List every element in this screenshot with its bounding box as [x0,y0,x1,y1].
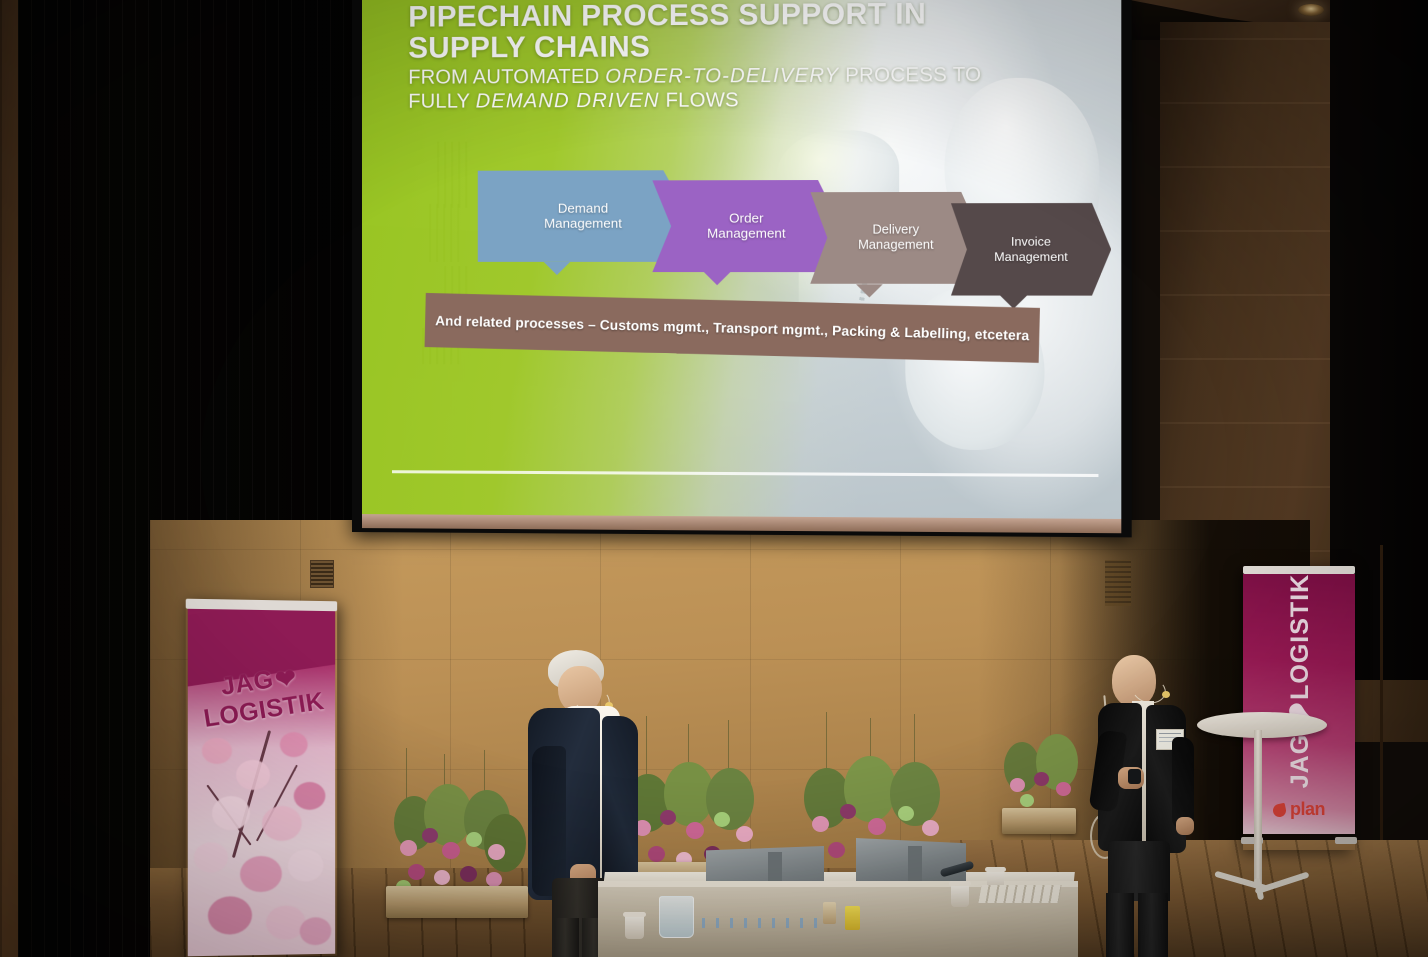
stage-label-3: Invoice Management [994,234,1068,264]
speaker-right-leg [1138,893,1168,957]
flower-planter-far-right-foliage [1000,716,1086,812]
speaker-right [1084,655,1204,957]
process-stage-invoice-management: Invoice Management [951,203,1111,296]
speaker-left-arm [532,746,566,896]
yellow-can [845,906,860,930]
stage-notch-1 [704,272,730,285]
stage-label-1: Order Management [707,210,785,242]
banner-right-word-after: LOGISTIK [1286,574,1314,700]
banner-right-rail [1243,566,1355,574]
subtitle-1a: FROM AUTOMATED [408,65,605,88]
rollup-banner-left: JAG❤LOGISTIK [186,599,337,957]
slide-title-line-1: PIPECHAIN PROCESS SUPPORT IN [408,0,1107,33]
banner-right-slogan: JAG❤LOGISTIK [1285,574,1315,804]
water-carafe [659,896,694,938]
speaker-right-leg [1106,893,1134,957]
subtitle-1b: ORDER-TO-DELIVERY [605,64,839,87]
subtitle-2b: DEMAND DRIVEN [476,90,660,113]
ceiling-spotlight [1298,4,1324,16]
name-badge-text [1159,733,1181,734]
flower-planter-left-box [386,886,528,918]
coffee-cup [951,884,969,907]
speaker-right-hand [1176,817,1194,835]
desk-cable-tray [978,885,1061,903]
coffee-cup [625,915,644,939]
headset-mic-bud [1162,691,1170,698]
blossom-branch [232,730,271,858]
bistro-table-stem [1254,730,1262,885]
cherry-blossom [294,782,326,810]
stage-notch-2 [856,284,883,297]
wall-vent-right [1105,560,1131,606]
cherry-blossom [262,806,302,841]
plan-logo-mark [1272,803,1287,818]
speaker-left-jacket-right [602,716,638,892]
slide-subtitle-line-1: FROM AUTOMATED ORDER-TO-DELIVERY PROCESS… [408,63,1107,89]
banner-foot [1335,837,1357,844]
stage-label-2: Delivery Management [858,222,934,253]
stage-notch-0 [544,262,570,275]
heart-icon: ❤ [273,663,299,696]
cherry-blossom [194,842,228,872]
projection-screen: PIPECHAIN PROCESS SUPPORT IN SUPPLY CHAI… [352,0,1132,537]
cherry-blossom [280,732,308,757]
cherry-blossom [202,738,232,764]
subtitle-2c: FLOWS [660,89,739,112]
banner-left-artwork: JAG❤LOGISTIK [188,609,335,956]
coffee-cup-lid [623,912,646,917]
coffee-cup-lid [949,881,971,886]
cherry-blossom [288,850,324,882]
cherry-blossom [212,796,250,830]
cherry-blossom [300,917,332,945]
conference-stage-scene: PIPECHAIN PROCESS SUPPORT IN SUPPLY CHAI… [0,0,1428,957]
related-processes-text: And related processes – Customs mgmt., T… [435,313,1030,343]
desk-cables [702,918,822,928]
slide-surface: PIPECHAIN PROCESS SUPPORT IN SUPPLY CHAI… [362,0,1121,519]
subtitle-1c: PROCESS TO [839,63,981,86]
bistro-table-top [1197,712,1327,738]
speaker-right-trousers [1108,841,1170,901]
wall-vent-left [310,560,334,588]
stage-label-0: Demand Management [544,200,622,232]
cherry-blossom [236,760,270,790]
banner-right-word-before: JAG [1286,734,1314,788]
coffee-cup-lid [985,867,1006,872]
beverage-container [823,902,836,924]
subtitle-2a: FULLY [408,90,475,112]
slide-title-line-2: SUPPLY CHAINS [408,29,1107,64]
speaker-left-leg [554,918,579,957]
process-flow-diagram: Demand Management Order Management [478,169,1087,316]
slide-heading-block: PIPECHAIN PROCESS SUPPORT IN SUPPLY CHAI… [408,0,1107,113]
plan-logo-text: plan [1290,799,1325,819]
slide-subtitle-line-2: FULLY DEMAND DRIVEN FLOWS [408,88,1107,113]
cherry-blossom [208,896,252,935]
speaker-right-arm-right [1172,737,1194,829]
flower-planter-left-foliage [388,748,528,898]
presenter-clicker [1128,769,1141,784]
door-edge [1380,545,1383,875]
cherry-blossom [240,856,282,892]
